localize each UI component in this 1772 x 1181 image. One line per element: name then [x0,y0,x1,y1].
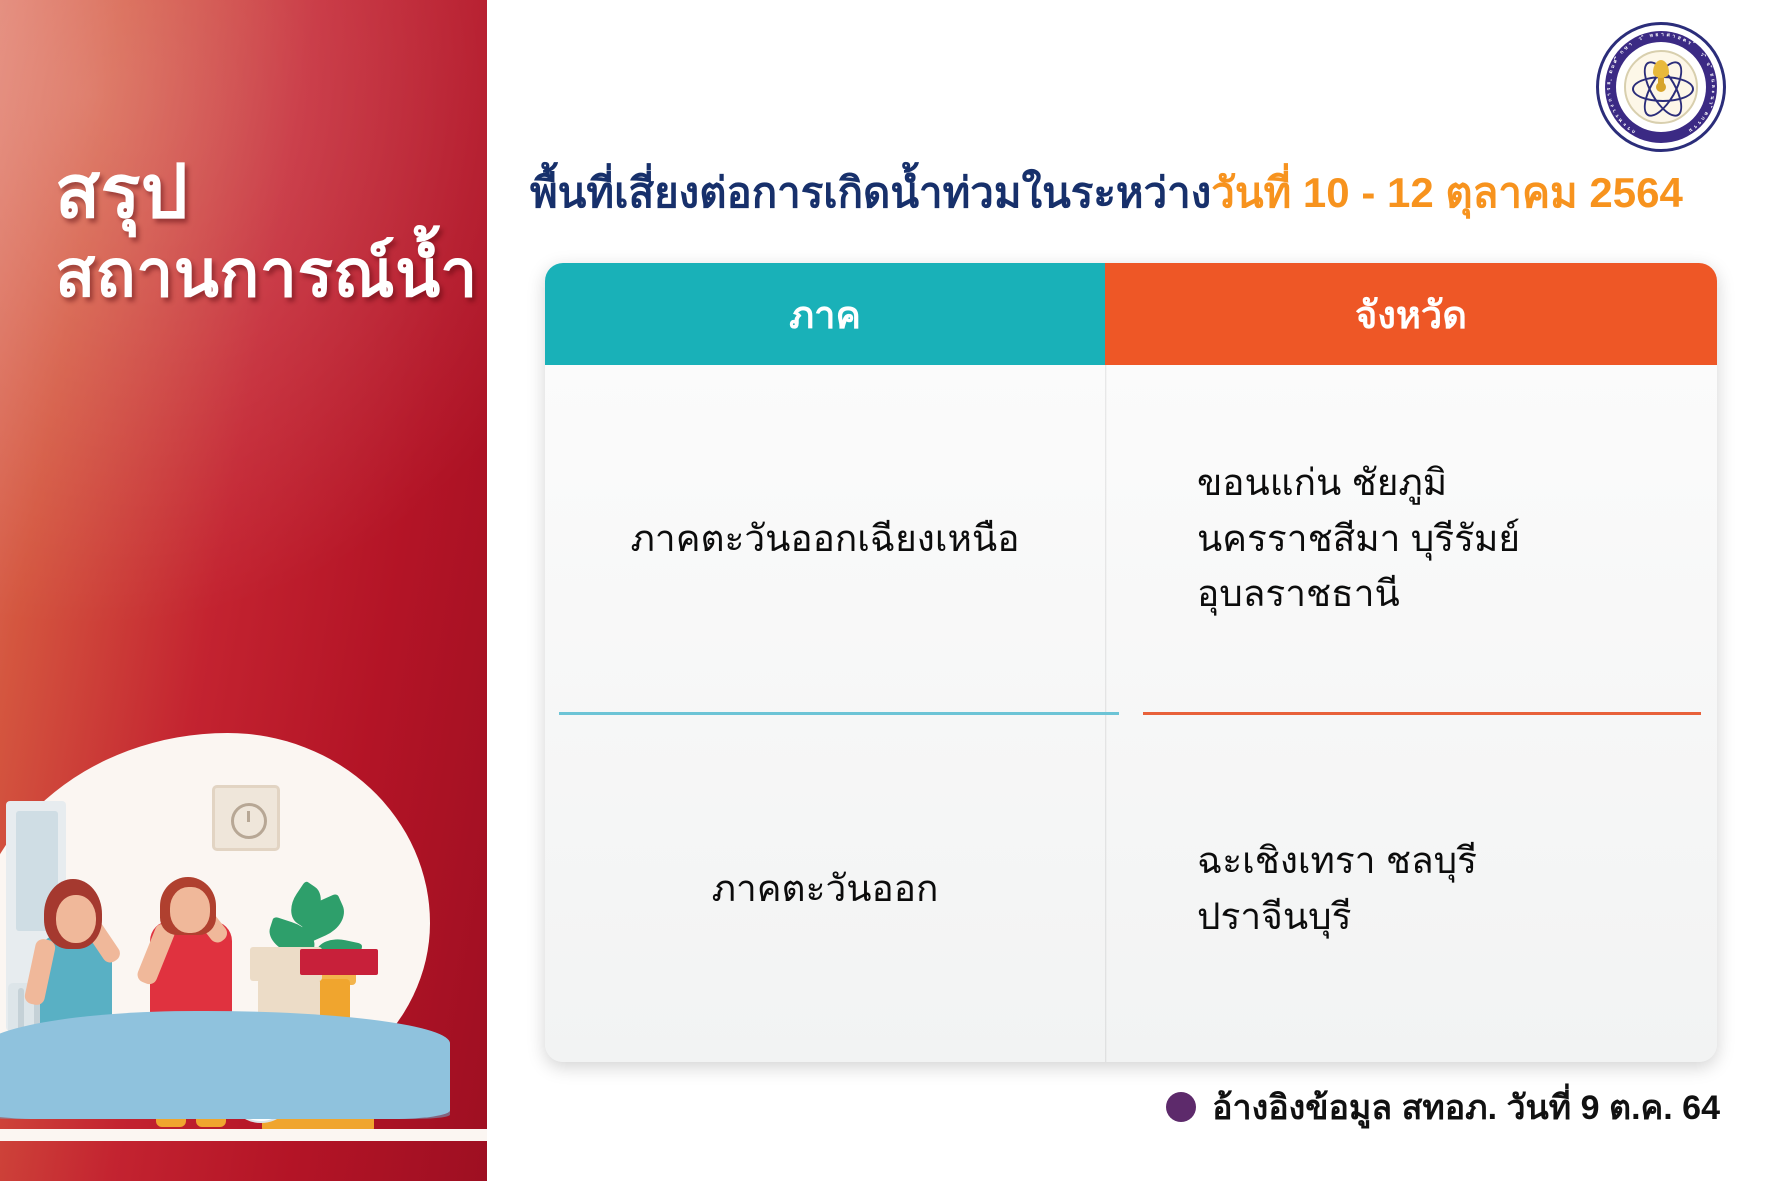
table-row: ภาคตะวันออก ฉะเชิงเทรา ชลบุรี ปราจีนบุรี [545,715,1717,1062]
headline-prefix: พื้นที่เสี่ยงต่อการเกิดน้ำท่วมในระหว่าง [530,169,1211,216]
logo-ring-text: กระทรวงการอุดมศึกษา วิทยาศาสตร์ วิจัยและ… [1596,22,1726,152]
table-row: ภาคตะวันออกเฉียงเหนือ ขอนแก่น ชัยภูมิ นค… [545,365,1717,712]
cell-provinces: ฉะเชิงเทรา ชลบุรี ปราจีนบุรี [1105,715,1717,1062]
page-title-line2: สถานการณ์น้ำ [55,238,478,309]
table-header-row: ภาค จังหวัด [545,263,1717,365]
column-header-province: จังหวัด [1105,263,1717,365]
headline: พื้นที่เสี่ยงต่อการเกิดน้ำท่วมในระหว่างว… [530,160,1683,226]
bullet-icon [1166,1092,1196,1122]
source-footer: อ้างอิงข้อมูล สทอภ. วันที่ 9 ต.ค. 64 [1166,1080,1720,1134]
page-title: สรุป สถานการณ์น้ำ [55,152,478,309]
province-line: ปราจีนบุรี [1197,889,1477,945]
person-one-face [56,895,96,943]
left-red-panel: สรุป สถานการณ์น้ำ [0,0,487,1181]
illustration-baseline [0,1129,487,1141]
province-line: นครราชสีมา บุรีรัมย์ [1197,511,1520,567]
organization-logo: กระทรวงการอุดมศึกษา วิทยาศาสตร์ วิจัยและ… [1596,22,1726,152]
cell-region: ภาคตะวันออก [545,715,1105,1062]
flood-illustration [0,701,487,1181]
risk-areas-table: ภาค จังหวัด ภาคตะวันออกเฉียงเหนือ ขอนแก่… [545,263,1717,1062]
province-line: ขอนแก่น ชัยภูมิ [1197,455,1520,511]
cell-region: ภาคตะวันออกเฉียงเหนือ [545,365,1105,712]
province-line: อุบลราชธานี [1197,566,1520,622]
wall-clock-icon [212,785,280,851]
infographic-canvas: สรุป สถานการณ์น้ำ [0,0,1772,1181]
floodwater [0,1011,450,1119]
column-divider [1105,365,1107,712]
person-two-face [170,887,210,933]
province-line: ฉะเชิงเทรา ชลบุรี [1197,833,1477,889]
column-header-region: ภาค [545,263,1105,365]
column-divider [1105,715,1107,1062]
table-body: ภาคตะวันออกเฉียงเหนือ ขอนแก่น ชัยภูมิ นค… [545,365,1717,1062]
source-text: อ้างอิงข้อมูล สทอภ. วันที่ 9 ต.ค. 64 [1212,1080,1720,1134]
cell-provinces: ขอนแก่น ชัยภูมิ นครราชสีมา บุรีรัมย์ อุบ… [1105,365,1717,712]
headline-date-range: วันที่ 10 - 12 ตุลาคม 2564 [1211,169,1683,216]
page-title-line1: สรุป [55,150,188,233]
red-box [300,949,378,975]
